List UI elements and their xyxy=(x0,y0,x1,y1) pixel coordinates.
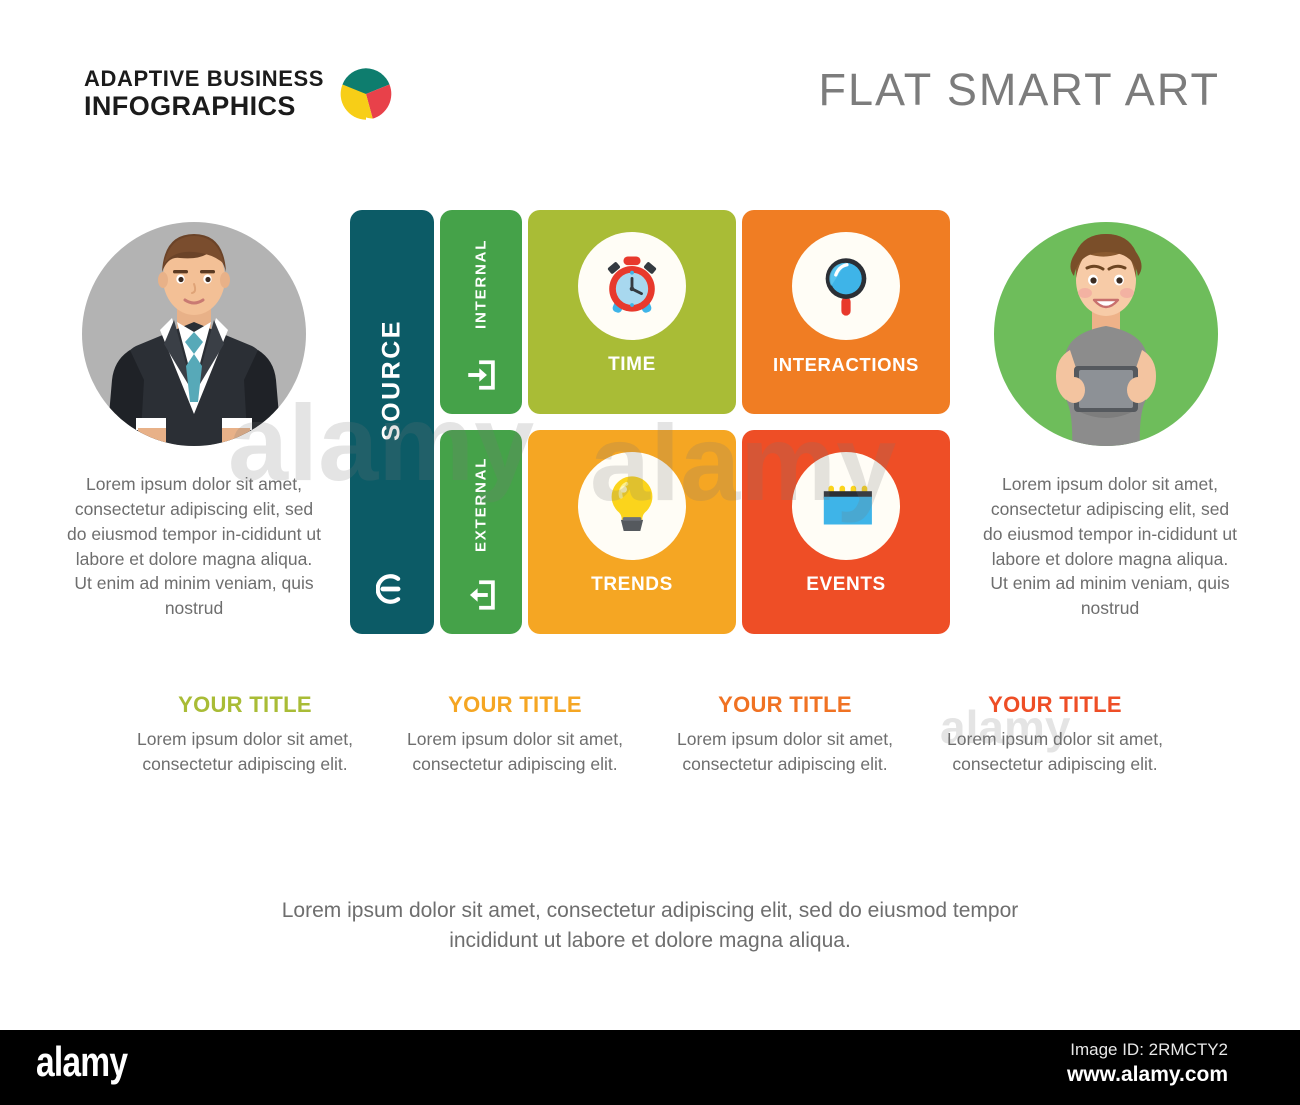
calendar-icon xyxy=(809,469,883,543)
tile-trends-label: TRENDS xyxy=(528,574,736,596)
footer-paragraph: Lorem ipsum dolor sit amet, consectetur … xyxy=(240,896,1060,956)
alamy-logo: alamy xyxy=(36,1038,127,1086)
arrow-out-bracket-icon xyxy=(464,578,498,612)
panel-external-label: EXTERNAL xyxy=(440,430,522,578)
tile-trends-disc xyxy=(578,452,686,560)
pie-chart-icon xyxy=(338,66,394,122)
title-column: YOUR TITLE Lorem ipsum dolor sit amet, c… xyxy=(110,692,380,777)
title-columns: YOUR TITLE Lorem ipsum dolor sit amet, c… xyxy=(110,692,1190,777)
tile-interactions-label: INTERACTIONS xyxy=(742,354,950,376)
panel-source[interactable]: SOURCE xyxy=(350,210,434,634)
tile-events-disc xyxy=(792,452,900,560)
column-body: Lorem ipsum dolor sit amet, consectetur … xyxy=(380,727,650,777)
businessman-avatar xyxy=(78,218,310,450)
brand-logo: ADAPTIVE BUSINESS INFOGRAPHICS xyxy=(84,66,394,122)
avatar xyxy=(990,218,1222,450)
panel-external[interactable]: EXTERNAL xyxy=(440,430,522,634)
column-title: YOUR TITLE xyxy=(110,692,380,718)
power-login-icon xyxy=(376,572,410,606)
avatar xyxy=(78,218,310,450)
title-column: YOUR TITLE Lorem ipsum dolor sit amet, c… xyxy=(380,692,650,777)
panel-internal-label: INTERNAL xyxy=(440,210,522,358)
brand-line-1: ADAPTIVE BUSINESS xyxy=(84,68,324,90)
title-column: YOUR TITLE Lorem ipsum dolor sit amet, c… xyxy=(650,692,920,777)
person-block-right: Lorem ipsum dolor sit amet, consectetur … xyxy=(972,218,1242,621)
image-id-text: Image ID: 2RMCTY2 xyxy=(1070,1040,1228,1060)
infographic-canvas: ADAPTIVE BUSINESS INFOGRAPHICS FLAT SMAR… xyxy=(0,0,1300,1105)
person-left-text: Lorem ipsum dolor sit amet, consectetur … xyxy=(66,472,322,621)
alamy-watermark-bar: alamy Image ID: 2RMCTY2 www.alamy.com xyxy=(0,1030,1300,1105)
arrow-into-bracket-icon xyxy=(464,358,498,392)
brand-text: ADAPTIVE BUSINESS INFOGRAPHICS xyxy=(84,68,324,120)
businesswoman-avatar xyxy=(990,218,1222,450)
tile-interactions-disc xyxy=(792,232,900,340)
person-right-text: Lorem ipsum dolor sit amet, consectetur … xyxy=(982,472,1238,621)
alamy-url-text: www.alamy.com xyxy=(1067,1063,1228,1087)
panel-source-label: SOURCE xyxy=(350,210,434,550)
tile-events[interactable]: EVENTS xyxy=(742,430,950,634)
tile-events-label: EVENTS xyxy=(742,574,950,596)
person-block-left: Lorem ipsum dolor sit amet, consectetur … xyxy=(58,218,328,621)
tile-trends[interactable]: TRENDS xyxy=(528,430,736,634)
column-body: Lorem ipsum dolor sit amet, consectetur … xyxy=(110,727,380,777)
tile-time-disc xyxy=(578,232,686,340)
column-title: YOUR TITLE xyxy=(650,692,920,718)
smart-art-diagram: SOURCE INTERNAL EXTERNAL xyxy=(350,210,954,634)
alarm-clock-icon xyxy=(594,248,670,324)
page-title: FLAT SMART ART xyxy=(819,64,1220,116)
lightbulb-icon xyxy=(595,469,669,543)
tile-time-label: TIME xyxy=(528,354,736,376)
panel-internal[interactable]: INTERNAL xyxy=(440,210,522,414)
column-title: YOUR TITLE xyxy=(380,692,650,718)
tile-interactions[interactable]: INTERACTIONS xyxy=(742,210,950,414)
title-column: YOUR TITLE Lorem ipsum dolor sit amet, c… xyxy=(920,692,1190,777)
tile-time[interactable]: TIME xyxy=(528,210,736,414)
brand-line-2: INFOGRAPHICS xyxy=(84,93,324,120)
column-body: Lorem ipsum dolor sit amet, consectetur … xyxy=(920,727,1190,777)
magnifying-glass-icon xyxy=(809,249,883,323)
column-body: Lorem ipsum dolor sit amet, consectetur … xyxy=(650,727,920,777)
column-title: YOUR TITLE xyxy=(920,692,1190,718)
